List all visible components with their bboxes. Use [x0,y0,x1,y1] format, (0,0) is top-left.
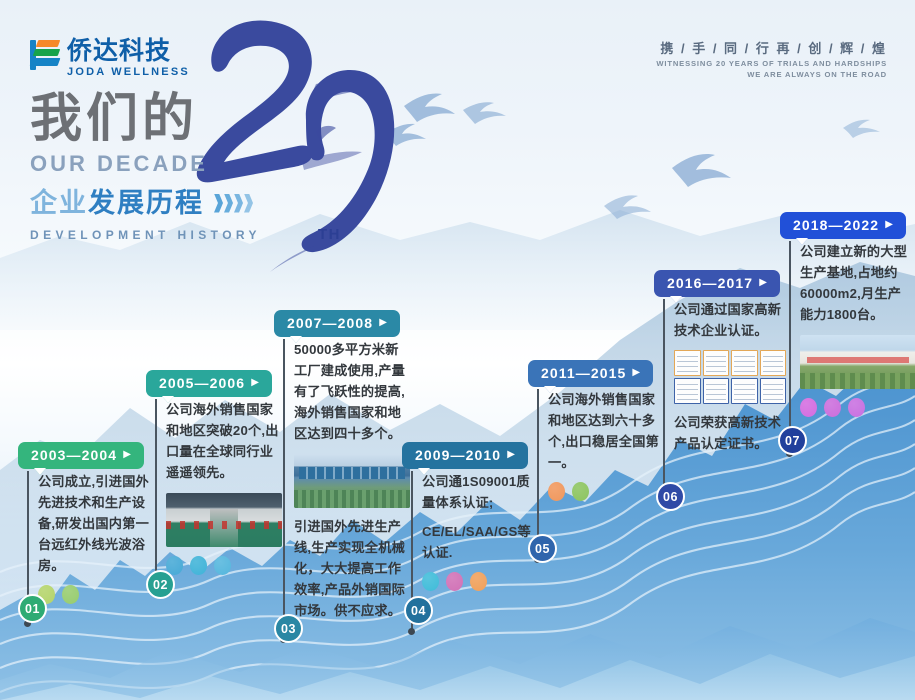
period-label: 2007—2008 [287,315,373,331]
timeline-node-02[interactable]: 02 [146,570,175,599]
certificate-thumbnail [674,350,701,376]
slogan-en-line1: WITNESSING 20 YEARS OF TRIALS AND HARDSH… [656,58,887,69]
timeline-node-label: 07 [785,434,800,448]
chevron-right-icon: ▶ [759,278,768,288]
certificate-thumbnail [731,350,758,376]
timeline-body-05: 公司海外销售国家和地区达到六十多个,出口稳居全国第一。 [528,389,662,501]
timeline-item-04[interactable]: 2009—2010▶公司通1S09001质量体系认证;CE/EL/SAA/GS等… [402,442,536,591]
timeline-node-06[interactable]: 06 [656,482,685,511]
certificate-gallery[interactable] [674,350,786,404]
accent-dots [800,398,915,417]
accent-dot [824,398,841,417]
timeline-body-03: 50000多平方米新工厂建成使用,产量有了飞跃性的提高,海外销售国家和地区达到四… [274,339,410,621]
header-block: 侨达科技 JODA WELLNESS 我们的 OUR DECADE 企业发展历程… [30,38,261,242]
period-label: 2003—2004 [31,447,117,463]
timeline-item-07[interactable]: 2018—2022▶公司建立新的大型生产基地,占地约60000m2,月生产能力1… [780,212,915,417]
certificate-thumbnail [731,378,758,404]
period-label: 2018—2022 [793,217,879,233]
chevron-right-icon: ▶ [379,318,388,328]
joda-stripes-logo-icon [30,40,60,72]
timeline-period-badge-07[interactable]: 2018—2022▶ [780,212,906,239]
period-label: 2009—2010 [415,447,501,463]
accent-dot [572,482,589,501]
brand-name-en: JODA WELLNESS [67,65,190,79]
slogan-en-line2: WE ARE ALWAYS ON THE ROAD [656,69,887,80]
accent-dot [446,572,463,591]
period-label: 2005—2006 [159,375,245,391]
certificate-thumbnail [674,378,701,404]
timeline-body-06: 公司通过国家高新技术企业认证。公司荣获高新技术产品认定证书。 [654,299,788,454]
timeline-node-04[interactable]: 04 [404,596,433,625]
accent-dot [422,572,439,591]
timeline-period-badge-04[interactable]: 2009—2010▶ [402,442,528,469]
chevron-right-icon: ▶ [885,220,894,230]
timeline-period-badge-03[interactable]: 2007—2008▶ [274,310,400,337]
certificate-thumbnail [703,350,730,376]
subtitle-cn-dark: 发展历程 [88,188,204,218]
timeline-paragraph: 公司通过国家高新技术企业认证。 [674,299,788,341]
accent-dot [62,585,79,604]
accent-dot [800,398,817,417]
timeline-item-03[interactable]: 2007—2008▶50000多平方米新工厂建成使用,产量有了飞跃性的提高,海外… [274,310,410,621]
period-label: 2011—2015 [541,365,626,381]
timeline-paragraph: 公司海外销售国家和地区达到六十多个,出口稳居全国第一。 [548,389,662,473]
accent-dot [190,556,207,575]
timeline-paragraph: CE/EL/SAA/GS等认证. [422,521,536,563]
timeline-period-badge-01[interactable]: 2003—2004▶ [18,442,144,469]
slogan-cn: 携 / 手 / 同 / 行 再 / 创 / 辉 / 煌 [656,40,887,58]
subtitle-en: DEVELOPMENT HISTORY [30,228,261,242]
timeline-paragraph: 公司海外销售国家和地区突破20个,出口量在全球同行业遥遥领先。 [166,399,280,483]
chevron-right-icon: ▶ [507,450,516,460]
timeline-node-label: 01 [25,602,40,616]
timeline-paragraph: 公司通1S09001质量体系认证; [422,471,536,513]
timeline-connector-line [789,241,791,453]
timeline-photo [800,335,915,389]
timeline-node-label: 06 [663,490,678,504]
timeline-item-06[interactable]: 2016—2017▶公司通过国家高新技术企业认证。公司荣获高新技术产品认定证书。 [654,270,788,454]
timeline-paragraph: 50000多平方米新工厂建成使用,产量有了飞跃性的提高,海外销售国家和地区达到四… [294,339,408,444]
accent-dot [848,398,865,417]
infographic-canvas: TH 侨达科技 JODA WELLNESS 我们的 OUR DECADE 企业发… [0,0,915,700]
timeline-paragraph: 公司成立,引进国外先进技术和生产设备,研发出国内第一台远红外线光波浴房。 [38,471,152,576]
timeline-node-05[interactable]: 05 [528,534,557,563]
slogan-block: 携 / 手 / 同 / 行 再 / 创 / 辉 / 煌 WITNESSING 2… [656,40,887,80]
page-title-en: OUR DECADE [30,151,261,177]
chevron-right-icon: ▶ [123,450,132,460]
timeline-item-05[interactable]: 2011—2015▶公司海外销售国家和地区达到六十多个,出口稳居全国第一。 [528,360,662,501]
timeline-connector-line [663,299,665,491]
accent-dots [38,585,152,604]
timeline-body-07: 公司建立新的大型生产基地,占地约60000m2,月生产能力1800台。 [780,241,915,417]
timeline-connector-line [283,339,285,639]
timeline-node-07[interactable]: 07 [778,426,807,455]
accent-dot [214,556,231,575]
timeline-photo [294,454,410,508]
subtitle-cn-light: 企业 [30,188,88,218]
timeline-period-badge-05[interactable]: 2011—2015▶ [528,360,653,387]
accent-dot [470,572,487,591]
brand-logo[interactable]: 侨达科技 JODA WELLNESS [30,38,261,79]
timeline-node-03[interactable]: 03 [274,614,303,643]
timeline-period-badge-02[interactable]: 2005—2006▶ [146,370,272,397]
timeline-period-badge-06[interactable]: 2016—2017▶ [654,270,780,297]
chevron-right-icon [214,194,253,213]
timeline-body-02: 公司海外销售国家和地区突破20个,出口量在全球同行业遥遥领先。 [146,399,282,575]
timeline-body-01: 公司成立,引进国外先进技术和生产设备,研发出国内第一台远红外线光波浴房。 [18,471,152,604]
accent-dots [166,556,282,575]
subtitle-row: 企业发展历程 [30,187,261,219]
period-label: 2016—2017 [667,275,753,291]
chevron-right-icon: ▶ [632,368,641,378]
accent-dots [422,572,536,591]
timeline-paragraph: 公司建立新的大型生产基地,占地约60000m2,月生产能力1800台。 [800,241,914,325]
timeline-node-label: 03 [281,622,296,636]
page-title-cn: 我们的 [30,89,261,149]
timeline-node-01[interactable]: 01 [18,594,47,623]
timeline-body-04: 公司通1S09001质量体系认证;CE/EL/SAA/GS等认证. [402,471,536,591]
subtitle-cn: 企业发展历程 [30,187,204,219]
chevron-right-icon: ▶ [251,378,260,388]
timeline-item-01[interactable]: 2003—2004▶公司成立,引进国外先进技术和生产设备,研发出国内第一台远红外… [18,442,152,604]
timeline-node-label: 05 [535,542,550,556]
timeline-node-label: 04 [411,604,426,618]
timeline-paragraph: 公司荣获高新技术产品认定证书。 [674,412,788,454]
timeline-connector-line [155,399,157,587]
certificate-thumbnail [703,378,730,404]
accent-dot [548,482,565,501]
timeline-paragraph: 引进国外先进生产线,生产实现全机械化，大大提高工作效率,产品外销国际市场。供不应… [294,516,408,621]
brand-name-cn: 侨达科技 [67,38,190,64]
timeline-photo [166,493,282,547]
timeline-item-02[interactable]: 2005—2006▶公司海外销售国家和地区突破20个,出口量在全球同行业遥遥领先… [146,370,282,575]
accent-dots [548,482,662,501]
anniversary-th-suffix: TH [318,226,341,243]
timeline-node-label: 02 [153,578,168,592]
